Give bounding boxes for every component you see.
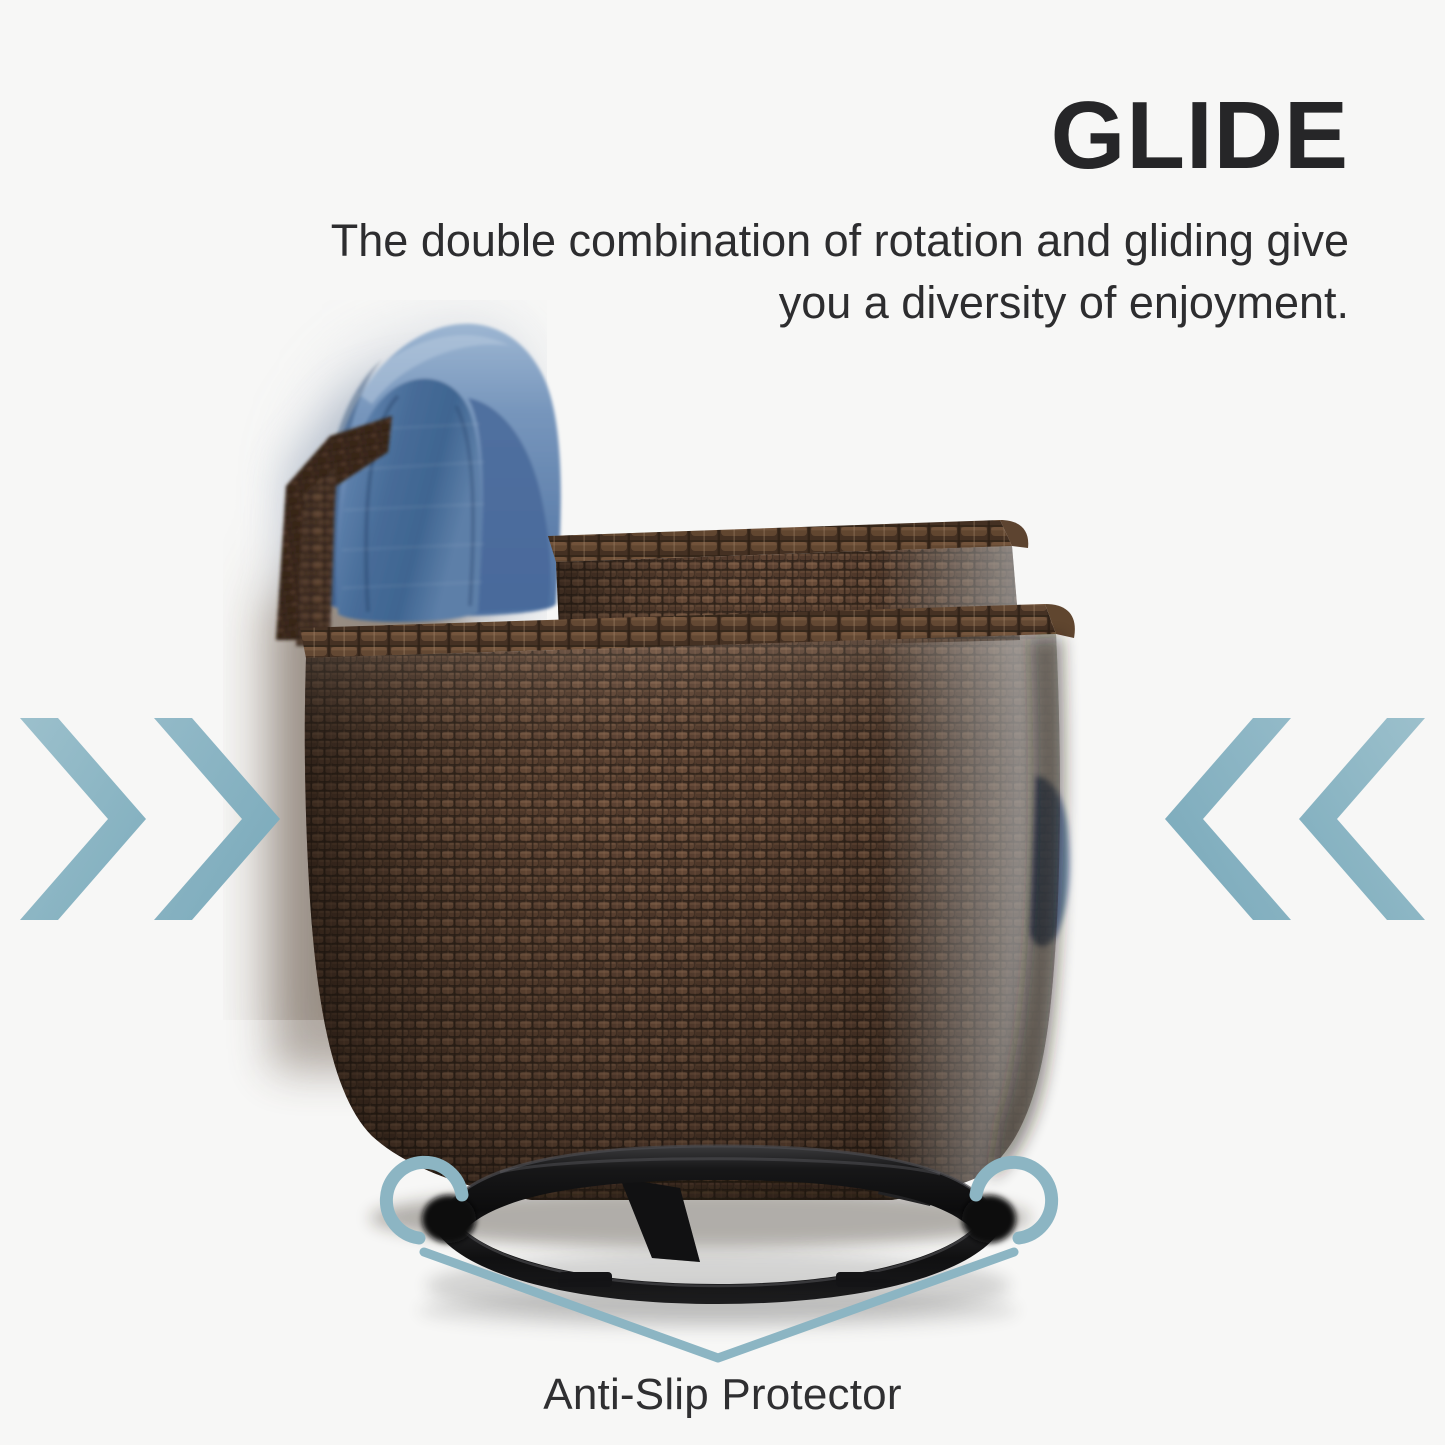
chevron-left-icon-1 <box>1293 714 1431 924</box>
chair-side-body <box>305 634 1060 1214</box>
chevron-right-icon-1 <box>14 714 152 924</box>
page-subtitle: The double combination of rotation and g… <box>279 210 1349 334</box>
product-feature-image: Anti-Slip Protector <box>0 0 1445 1445</box>
anti-slip-foot-left <box>422 1195 476 1243</box>
base-floor-shadow <box>418 1290 1018 1330</box>
anti-slip-protector-label: Anti-Slip Protector <box>0 1370 1445 1420</box>
page-title: GLIDE <box>279 88 1349 184</box>
chevron-right-icon-2 <box>148 714 286 924</box>
chevron-left-icon-2 <box>1159 714 1297 924</box>
headline-block: GLIDE The double combination of rotation… <box>279 88 1349 334</box>
anti-slip-foot-right <box>962 1195 1016 1243</box>
